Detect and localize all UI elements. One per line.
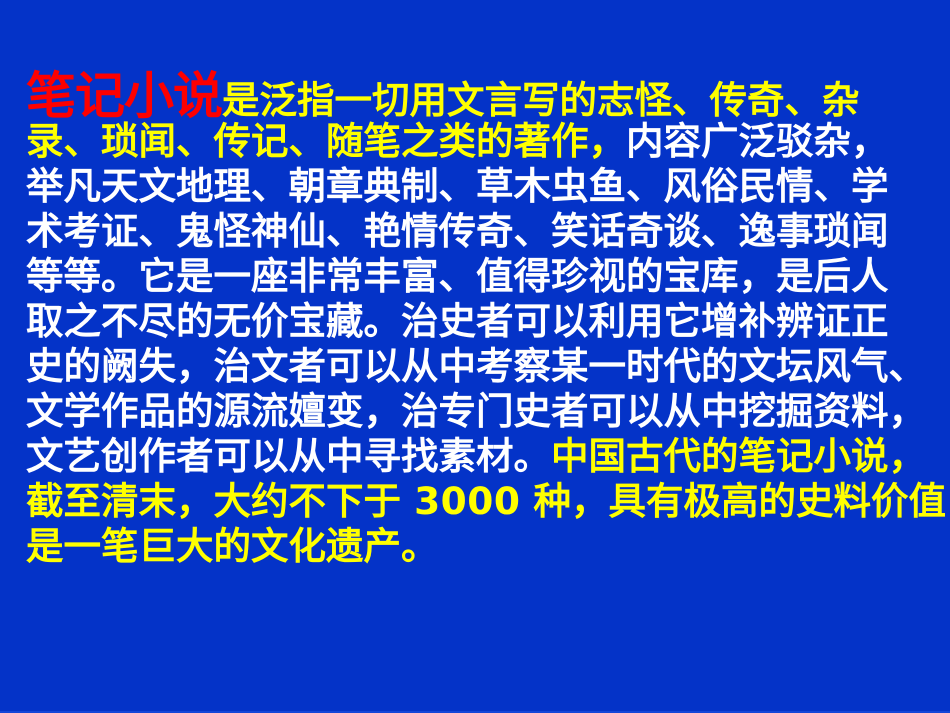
slide-body-text: 笔记小说是泛指一切用文言写的志怪、传奇、杂录、琐闻、传记、随笔之类的著作，内容广… [26, 74, 932, 569]
text-line: 术考证、鬼怪神仙、艳情传奇、笑话奇谈、逸事琐闻 [26, 209, 932, 254]
text-segment-white: 文艺创作者可以从中寻找素材。 [26, 434, 551, 478]
text-line: 截至清末，大约不下于 3000 种，具有极高的史料价值， [26, 479, 932, 524]
text-segment-yellow: 是一笔巨大的文化遗产。 [26, 524, 439, 568]
text-line: 取之不尽的无价宝藏。治史者可以利用它增补辨证正 [26, 299, 932, 344]
text-line: 是一笔巨大的文化遗产。 [26, 524, 932, 569]
text-segment-white: 举凡天文地理、朝章典制、草木虫鱼、风俗民情、学 [26, 164, 889, 208]
text-segment-yellow: 中国古代的笔记小说， [551, 434, 926, 478]
text-segment-yellow: 种，具有极高的史料价值， [520, 479, 950, 523]
text-segment-white: 史的阙失，治文者可以从中考察某一时代的文坛风气、 [26, 344, 926, 388]
text-segment-white: 术考证、鬼怪神仙、艳情传奇、笑话奇谈、逸事琐闻 [26, 209, 889, 253]
quantity-value: 3000 [414, 479, 520, 523]
text-line: 史的阙失，治文者可以从中考察某一时代的文坛风气、 [26, 344, 932, 389]
text-segment-white: 取之不尽的无价宝藏。治史者可以利用它增补辨证正 [26, 299, 889, 343]
presentation-slide: 笔记小说是泛指一切用文言写的志怪、传奇、杂录、琐闻、传记、随笔之类的著作，内容广… [0, 0, 950, 713]
text-line: 等等。它是一座非常丰富、值得珍视的宝库，是后人 [26, 254, 932, 299]
text-segment-yellow: 截至清末，大约不下于 [26, 479, 414, 523]
text-segment-white: 内容广泛驳杂， [626, 119, 889, 163]
text-line: 录、琐闻、传记、随笔之类的著作，内容广泛驳杂， [26, 119, 932, 164]
text-line: 文学作品的源流嬗变，治专门史者可以从中挖掘资料， [26, 389, 932, 434]
text-segment-yellow: 录、琐闻、传记、随笔之类的著作， [26, 119, 626, 163]
text-segment-white: 等等。它是一座非常丰富、值得珍视的宝库，是后人 [26, 254, 889, 298]
text-line: 笔记小说是泛指一切用文言写的志怪、传奇、杂 [26, 74, 932, 119]
text-segment-white: 文学作品的源流嬗变，治专门史者可以从中挖掘资料， [26, 389, 926, 433]
text-line: 文艺创作者可以从中寻找素材。中国古代的笔记小说， [26, 434, 932, 479]
emphasis-term-red: 笔记小说 [26, 67, 222, 125]
text-line: 举凡天文地理、朝章典制、草木虫鱼、风俗民情、学 [26, 164, 932, 209]
text-segment-yellow: 是泛指一切用文言写的志怪、传奇、杂 [222, 78, 860, 122]
